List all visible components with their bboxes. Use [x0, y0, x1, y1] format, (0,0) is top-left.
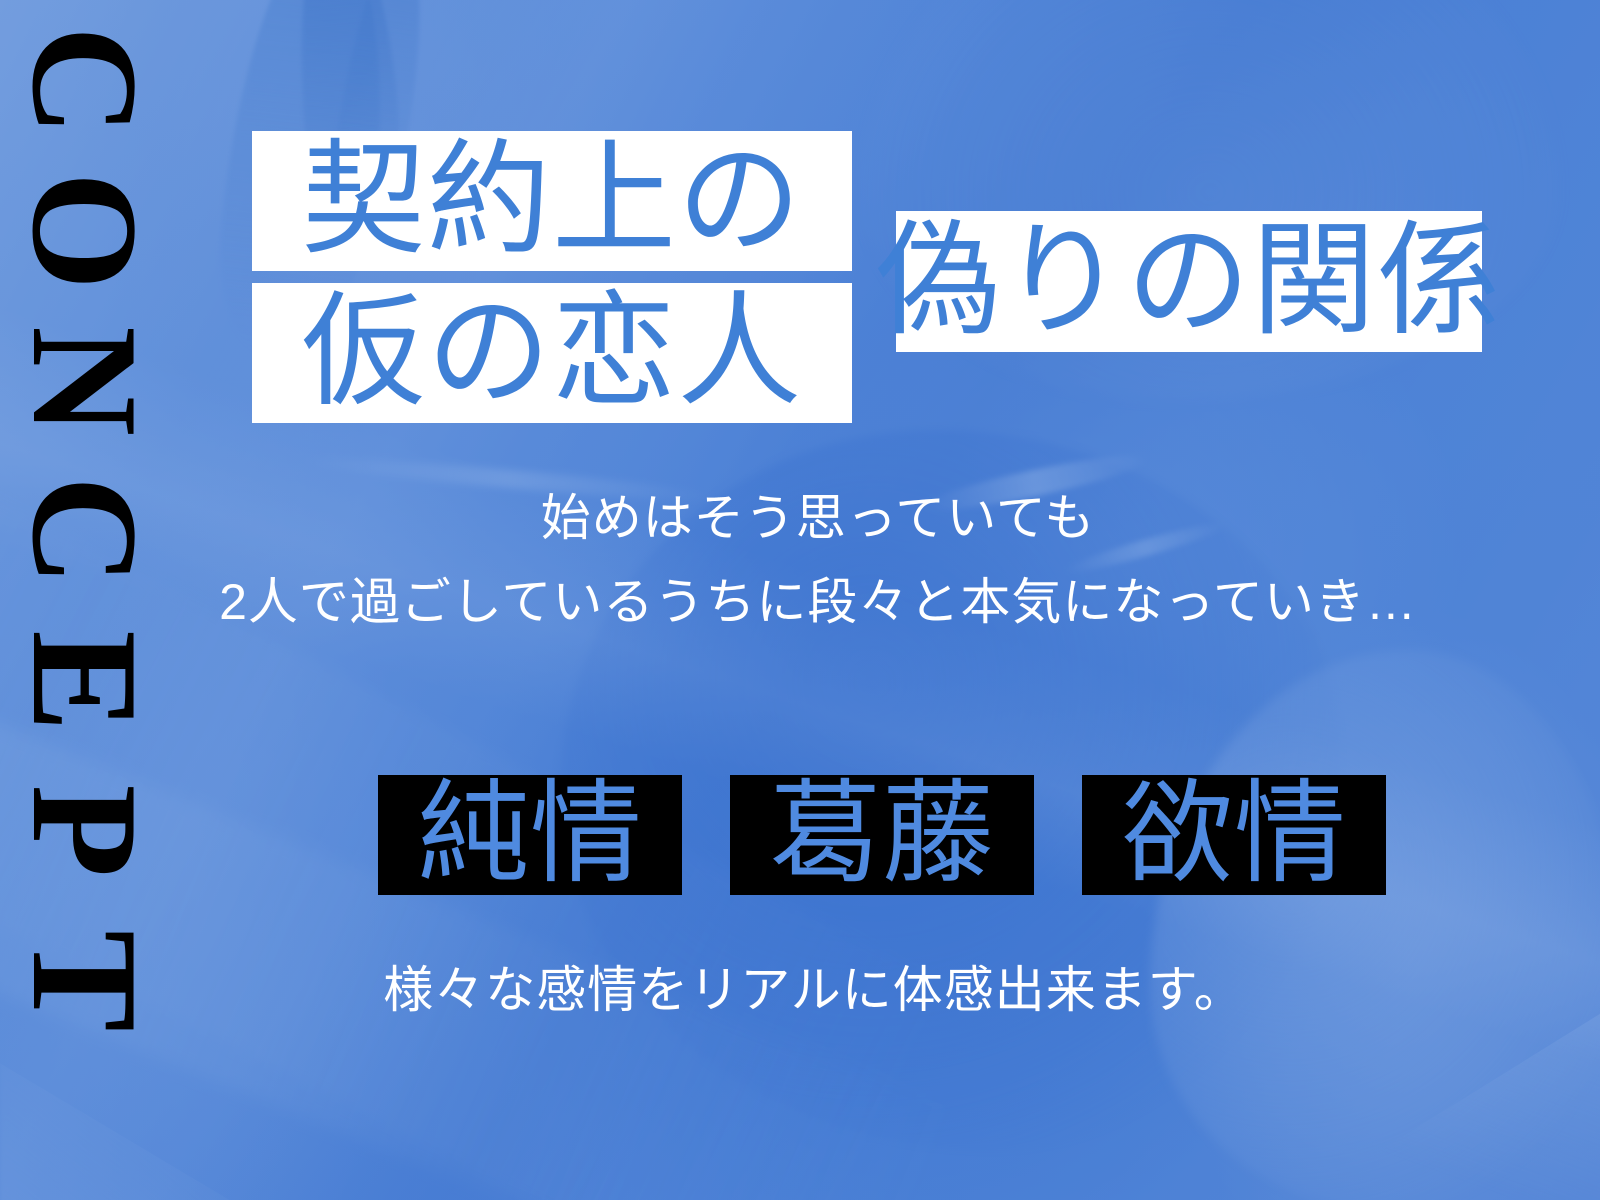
- headline-box-fake-relationship: 偽りの関係: [896, 211, 1482, 352]
- concept-letter: N: [5, 306, 155, 456]
- headline-text: 仮の恋人: [302, 291, 803, 415]
- keyword-chip-junjo: 純情: [378, 775, 682, 895]
- keyword-chip-label: 純情: [417, 779, 642, 891]
- headline-box-contract-line-1: 契約上の: [252, 131, 852, 271]
- concept-letter: O: [5, 156, 155, 306]
- concept-letter: C: [5, 6, 155, 156]
- body-copy-line-1: 始めはそう思っていても: [0, 478, 1600, 550]
- keyword-chip-label: 欲情: [1121, 779, 1346, 891]
- keyword-chip-label: 葛藤: [769, 779, 994, 891]
- keyword-chip-katto: 葛藤: [730, 775, 1034, 895]
- concept-letter: P: [5, 756, 155, 906]
- headline-box-contract-line-2: 仮の恋人: [252, 283, 852, 423]
- body-copy-line-2: 2人で過ごしているうちに段々と本気になっていき…: [0, 562, 1600, 634]
- headline-text: 契約上の: [302, 139, 803, 263]
- keyword-chip-row: 純情 葛藤 欲情: [378, 775, 1386, 895]
- body-copy-line-3: 様々な感情をリアルに体感出来ます。: [0, 950, 1600, 1022]
- background-blob-hip: [1150, 650, 1600, 1200]
- headline-text: 偽りの関係: [876, 220, 1502, 344]
- keyword-chip-yokujo: 欲情: [1082, 775, 1386, 895]
- concept-banner: C O N C E P T 契約上の 仮の恋人 偽りの関係 始めはそう思っていて…: [0, 0, 1600, 1200]
